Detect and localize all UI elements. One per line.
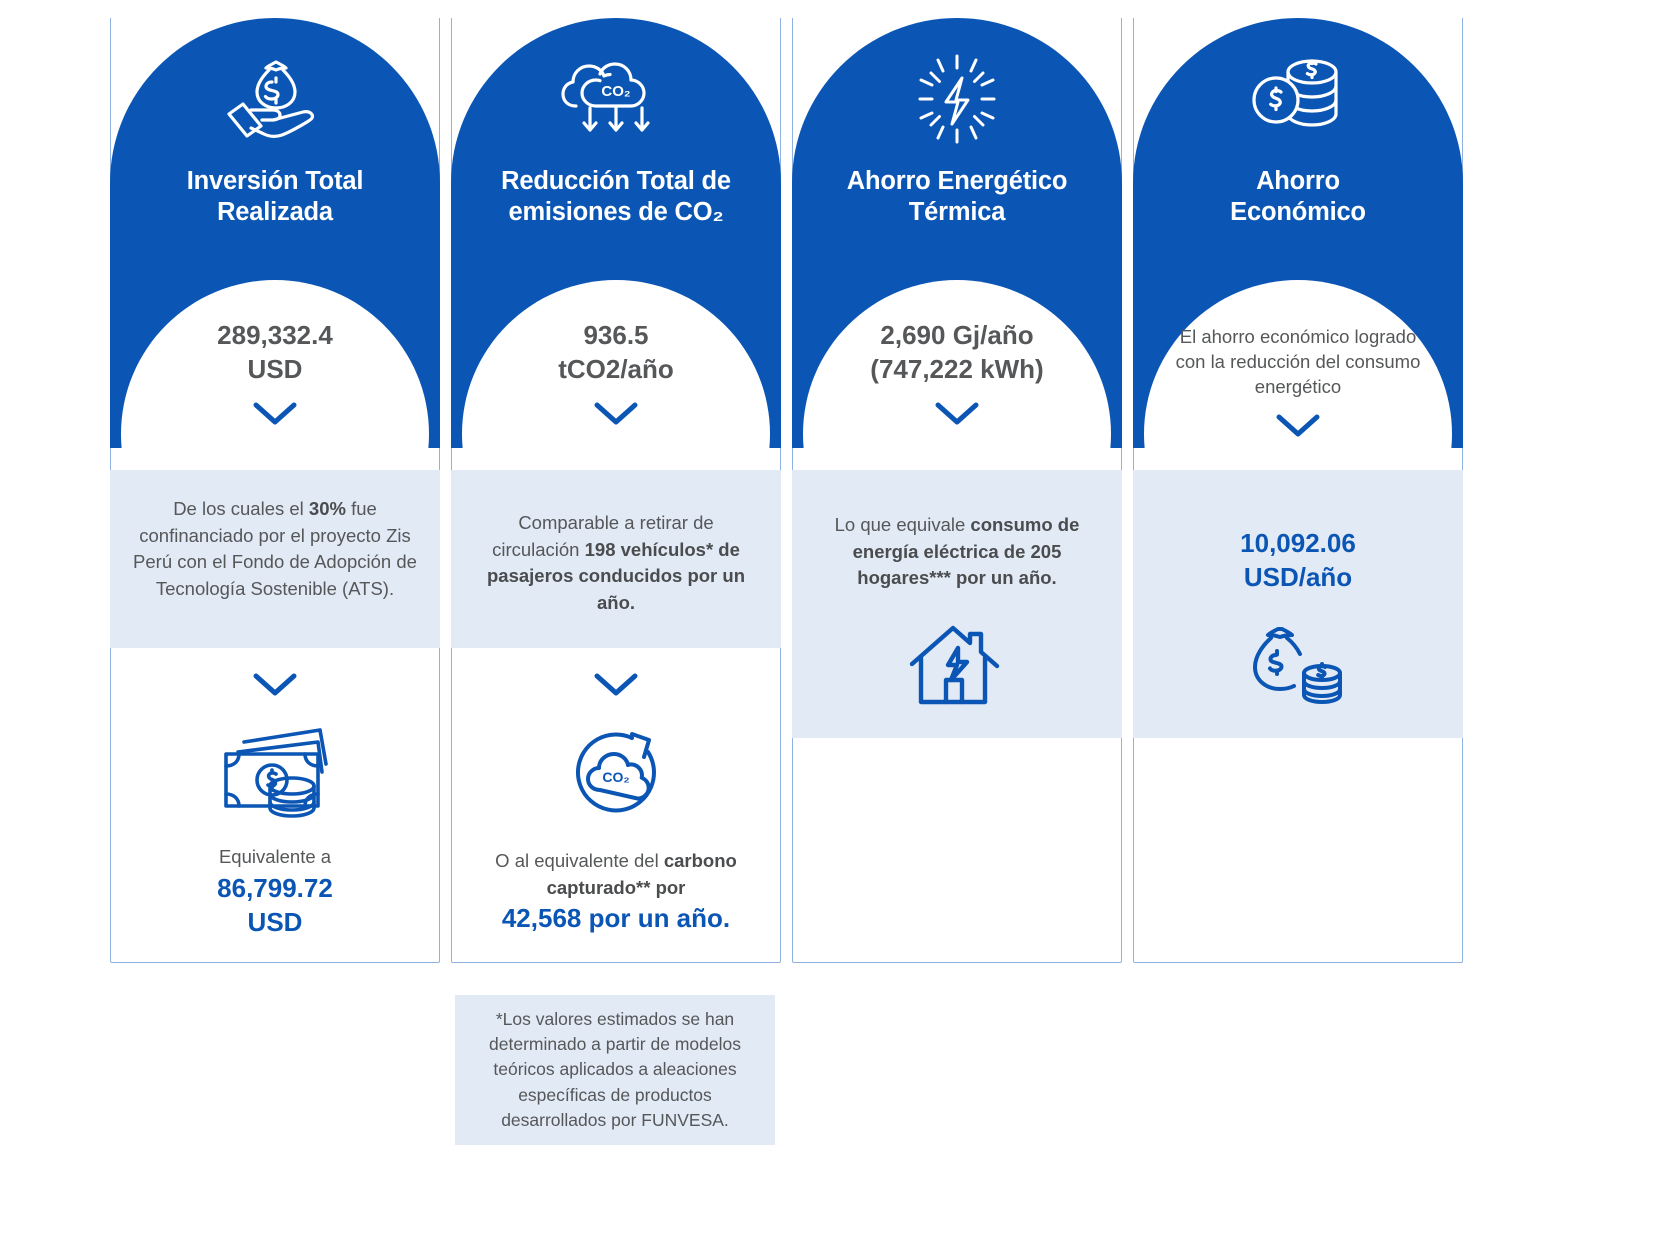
card-title: Ahorro Económico: [1145, 166, 1451, 228]
co2-capture-cycle-icon: CO₂: [451, 722, 781, 826]
chevron-down-icon: [934, 401, 980, 427]
card-title-line2: Realizada: [122, 197, 428, 228]
svg-text:CO₂: CO₂: [602, 769, 629, 785]
secondary-value-line2: USD/año: [1133, 560, 1463, 594]
primary-value-unit: tCO2/año: [467, 352, 765, 386]
money-bag-coins-icon: [1133, 621, 1463, 709]
footnote-box: *Los valores estimados se han determinad…: [455, 995, 775, 1145]
card-title-line2: Económico: [1145, 197, 1451, 228]
primary-value: El ahorro económico logrado con la reduc…: [1149, 324, 1447, 474]
metric-card-ahorro-energetico: Ahorro Energético Térmica 2,690 Gj/año (…: [792, 18, 1122, 963]
tertiary-section: Equivalente a 86,799.72 USD: [110, 658, 440, 939]
infographic-board: Inversión Total Realizada 289,332.4 USD …: [0, 0, 1667, 1250]
house-with-bolt-icon: [792, 620, 1122, 706]
card-title-line1: Ahorro: [1145, 166, 1451, 197]
footnote-text: *Los valores estimados se han determinad…: [455, 1007, 775, 1134]
secondary-band-text: De los cuales el 30% fue confinanciado p…: [110, 470, 440, 603]
secondary-band: 10,092.06 USD/año: [1133, 470, 1463, 738]
primary-value-unit: (747,222 kWh): [808, 352, 1106, 386]
card-title: Reducción Total de emisiones de CO₂: [463, 166, 769, 228]
card-title-line1: Inversión Total: [122, 166, 428, 197]
band-text-bold: 30%: [309, 498, 346, 519]
primary-value: 2,690 Gj/año (747,222 kWh): [808, 318, 1106, 468]
card-title: Ahorro Energético Térmica: [804, 166, 1110, 228]
card-title: Inversión Total Realizada: [122, 166, 428, 228]
lightning-bolt-rays-icon: [792, 50, 1122, 148]
card-title-line1: Reducción Total de: [463, 166, 769, 197]
chevron-down-icon: [593, 672, 639, 698]
band-text-prefix: De los cuales el: [173, 498, 309, 519]
hand-holding-money-bag-icon: [110, 50, 440, 146]
metric-card-reduccion-co2: CO₂ Reducción Total de emisiones de CO₂ …: [451, 18, 781, 963]
primary-value-unit: USD: [126, 352, 424, 386]
metric-card-inversion-total: Inversión Total Realizada 289,332.4 USD …: [110, 18, 440, 963]
tertiary-value-line1: 86,799.72: [110, 871, 440, 905]
chevron-down-icon: [1275, 413, 1321, 439]
tertiary-value-line1: 42,568 por un año.: [451, 901, 781, 935]
primary-description: El ahorro económico logrado con la reduc…: [1149, 324, 1447, 399]
band-text-prefix: Lo que equivale: [835, 514, 971, 535]
secondary-band: De los cuales el 30% fue confinanciado p…: [110, 470, 440, 648]
cash-and-coins-icon: [110, 724, 440, 822]
tertiary-value-line2: USD: [110, 905, 440, 939]
primary-value: 936.5 tCO2/año: [467, 318, 765, 468]
primary-value: 289,332.4 USD: [126, 318, 424, 468]
chevron-down-icon: [593, 401, 639, 427]
co2-clouds-arrows-icon: CO₂: [451, 50, 781, 146]
card-title-line2: emisiones de CO₂: [463, 197, 769, 228]
card-title-line1: Ahorro Energético: [804, 166, 1110, 197]
tertiary-caption: Equivalente a: [110, 844, 440, 871]
tertiary-caption: O al equivalente del carbono capturado**…: [451, 848, 781, 901]
secondary-band-text: Lo que equivale consumo de energía eléct…: [792, 470, 1122, 592]
secondary-value-line1: 10,092.06: [1133, 470, 1463, 560]
stacked-coins-dollar-icon: [1133, 50, 1463, 142]
primary-value-line1: 2,690 Gj/año: [808, 318, 1106, 352]
primary-value-line1: 289,332.4: [126, 318, 424, 352]
tertiary-caption-plain: O al equivalente del: [495, 850, 664, 871]
metric-card-ahorro-economico: Ahorro Económico El ahorro económico log…: [1133, 18, 1463, 963]
secondary-band: Lo que equivale consumo de energía eléct…: [792, 470, 1122, 738]
secondary-band: Comparable a retirar de circulación 198 …: [451, 470, 781, 648]
secondary-band-text: Comparable a retirar de circulación 198 …: [451, 470, 781, 617]
chevron-down-icon: [252, 672, 298, 698]
card-title-line2: Térmica: [804, 197, 1110, 228]
primary-value-line1: 936.5: [467, 318, 765, 352]
svg-text:CO₂: CO₂: [601, 83, 630, 100]
tertiary-section: CO₂ O al equivalente del carbono captura…: [451, 658, 781, 936]
chevron-down-icon: [252, 401, 298, 427]
